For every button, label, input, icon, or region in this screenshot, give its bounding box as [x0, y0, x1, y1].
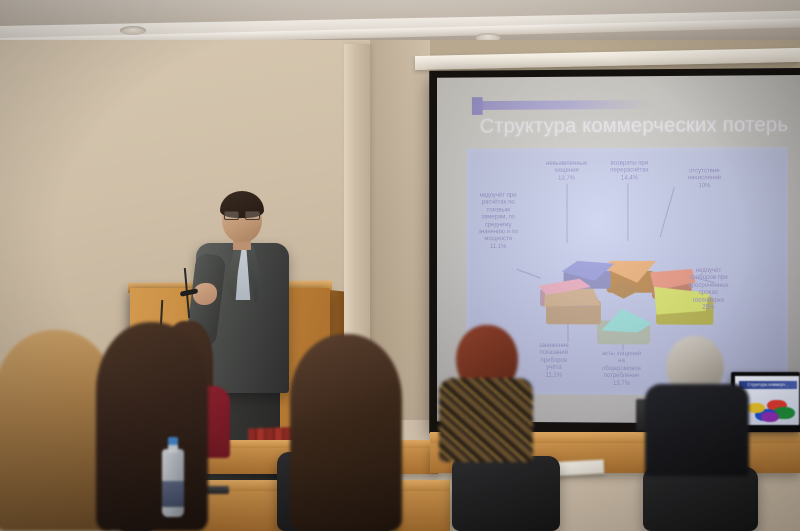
label-otsutstvie: отсутствие начислений 10%	[676, 167, 733, 189]
label-akty: акты хищений на общедомовое потребление …	[591, 350, 652, 387]
label-nedouchet-raschet: недоучёт при расчётах по токовым замерам…	[472, 192, 525, 251]
ceiling-downlight	[120, 26, 146, 35]
monitor-pie-slice	[761, 412, 779, 422]
water-bottle	[162, 437, 184, 517]
label-vozvraty: возвраты при перерасчётах 14,4%	[599, 160, 660, 182]
audience-member-man-suit	[645, 384, 749, 476]
label-nedouchet-pribor: недоучёт приборов при просроченных срока…	[680, 267, 738, 311]
glasses-icon	[224, 211, 260, 218]
audience-member-brunette-center	[290, 334, 402, 531]
slide-accent-bar	[476, 100, 652, 110]
chair	[643, 467, 758, 531]
presenter-hand-left	[193, 283, 217, 305]
audience-plaid-jacket	[439, 378, 533, 462]
label-nevyyavlennye: невыявленные хищения 13,7%	[536, 160, 597, 182]
presentation-photo: Структура коммерческих потерь	[0, 0, 800, 531]
audience-member-brunette-left	[96, 322, 208, 531]
slide-title: Структура коммерческих потерь	[480, 113, 790, 139]
bottle-label	[162, 481, 184, 507]
wall-pilaster	[344, 44, 370, 374]
leader-line	[627, 184, 628, 242]
leader-line	[567, 184, 568, 243]
chair	[452, 456, 560, 531]
monitor-slide-title: Структура коммерч...	[739, 381, 797, 389]
monitor-pie-chart	[743, 398, 797, 424]
leader-line	[660, 187, 675, 237]
label-zanizhenie: занижение показаний приборов учёта 11,1%	[526, 342, 581, 379]
monitor-pie-slice	[747, 403, 765, 413]
